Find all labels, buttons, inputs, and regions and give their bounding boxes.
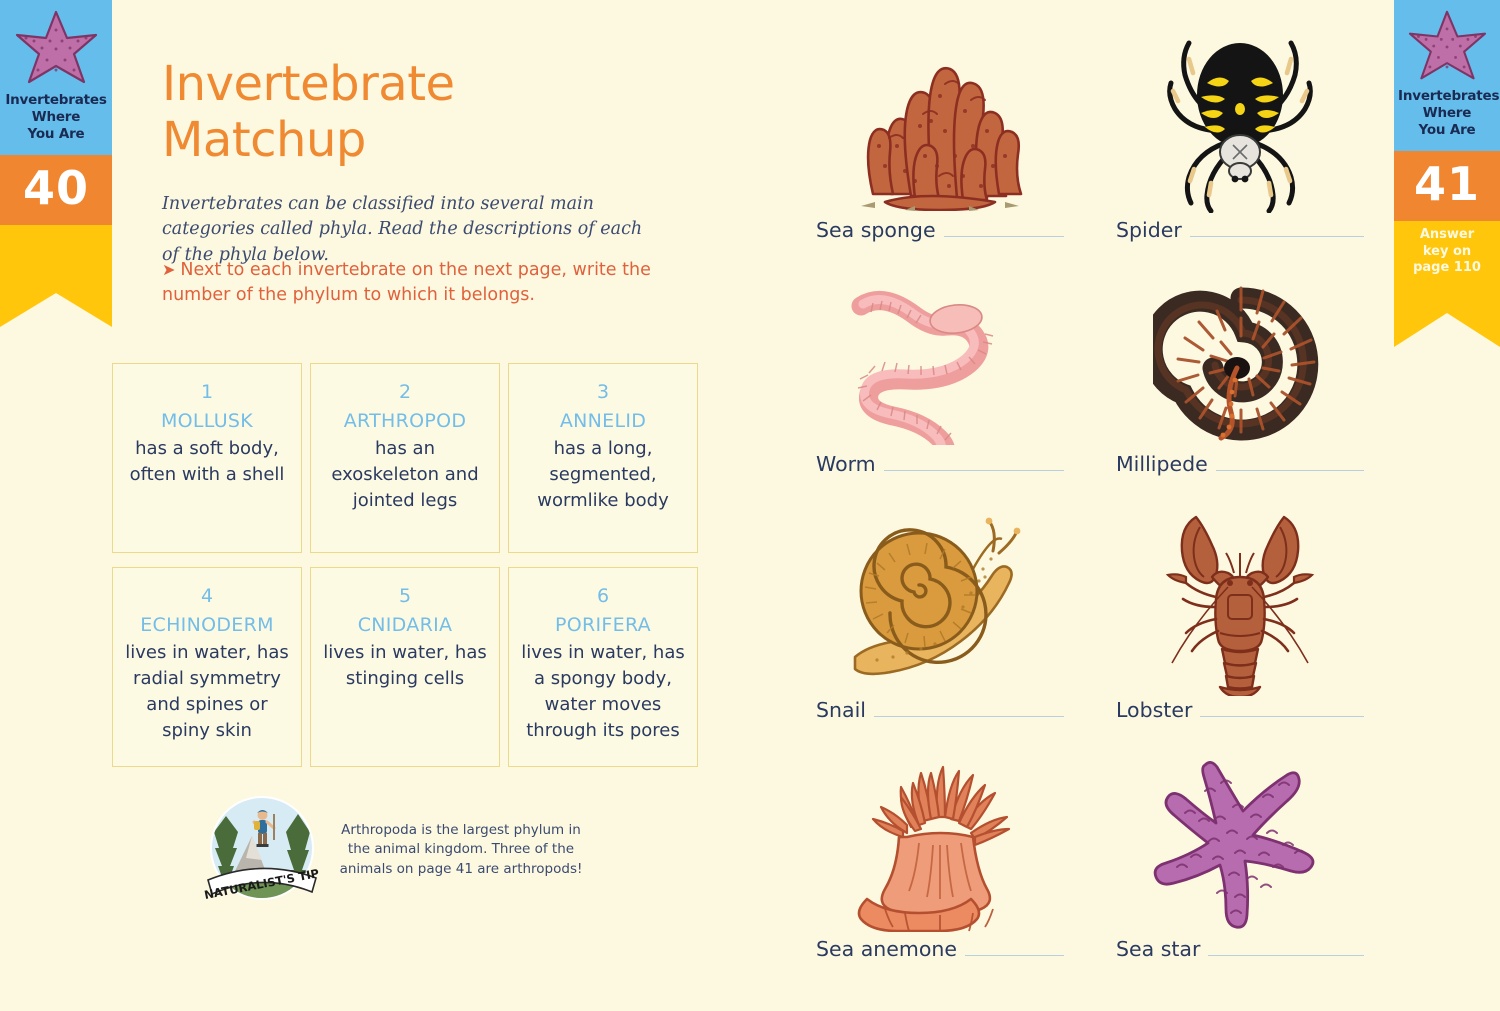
naturalists-tip: NATURALIST'S TIP Arthropoda is the large…	[202, 788, 722, 912]
invertebrate-row: Sea anemone	[790, 752, 1390, 961]
invertebrate-cell: Spider	[1090, 0, 1390, 242]
invertebrate-grid: Sea sponge	[790, 0, 1390, 961]
answer-field-row[interactable]: Millipede	[1090, 452, 1390, 476]
phylum-card: 4 ECHINODERM lives in water, has radial …	[112, 567, 302, 767]
answer-blank[interactable]	[1190, 221, 1364, 237]
sea-star-illustration	[1090, 752, 1390, 937]
sea-anemone-illustration	[790, 752, 1090, 937]
row-spacer	[790, 722, 1390, 752]
right-tab-label: Invertebrates Where You Are	[1398, 88, 1496, 139]
right-page-number: 41	[1394, 161, 1500, 207]
invertebrate-label: Millipede	[1116, 452, 1208, 476]
right-page-tab: Invertebrates Where You Are 41 Answer ke…	[1394, 0, 1500, 313]
phylum-description: lives in water, has a spongy body, water…	[517, 640, 689, 744]
invertebrate-label: Sea star	[1116, 937, 1200, 961]
phylum-card-grid: 1 MOLLUSK has a soft body, often with a …	[112, 363, 732, 781]
answer-blank[interactable]	[944, 221, 1064, 237]
snail-illustration	[790, 498, 1090, 698]
phylum-card: 2 ARTHROPOD has an exoskeleton and joint…	[310, 363, 500, 553]
naturalists-tip-text: Arthropoda is the largest phylum in the …	[336, 821, 586, 880]
left-page-tab: Invertebrates Where You Are 40	[0, 0, 112, 293]
answer-field-row[interactable]: Snail	[790, 698, 1090, 722]
invertebrate-cell: Lobster	[1090, 498, 1390, 722]
phylum-name: ANNELID	[517, 407, 689, 436]
naturalists-tip-badge: NATURALIST'S TIP	[202, 788, 322, 912]
phylum-card: 3 ANNELID has a long, segmented, wormlik…	[508, 363, 698, 553]
sea-anemone-icon	[845, 757, 1035, 932]
phylum-card: 5 CNIDARIA lives in water, has stinging …	[310, 567, 500, 767]
phylum-card-row-2: 4 ECHINODERM lives in water, has radial …	[112, 567, 732, 767]
phylum-card-row-1: 1 MOLLUSK has a soft body, often with a …	[112, 363, 732, 553]
invertebrate-cell: Millipede	[1090, 272, 1390, 476]
phylum-description: lives in water, has stinging cells	[319, 640, 491, 692]
phylum-name: MOLLUSK	[121, 407, 293, 436]
intro-paragraph: Invertebrates can be classified into sev…	[162, 192, 652, 268]
phylum-name: PORIFERA	[517, 611, 689, 640]
left-tab-header: Invertebrates Where You Are	[0, 0, 112, 155]
phylum-description: has an exoskeleton and jointed legs	[319, 436, 491, 514]
millipede-illustration	[1090, 272, 1390, 452]
invertebrate-row: Snail	[790, 498, 1390, 722]
right-tab-footer: Answer key on page 110	[1394, 221, 1500, 313]
spider-illustration	[1090, 0, 1390, 218]
lobster-illustration	[1090, 498, 1390, 698]
left-page-number: 40	[0, 165, 112, 211]
answer-field-row[interactable]: Sea star	[1090, 937, 1390, 961]
phylum-card: 1 MOLLUSK has a soft body, often with a …	[112, 363, 302, 553]
right-page-number-block: 41	[1394, 151, 1500, 221]
left-tab-point	[0, 293, 112, 327]
invertebrate-label: Sea sponge	[816, 218, 936, 242]
phylum-number: 1	[121, 378, 293, 407]
phylum-number: 3	[517, 378, 689, 407]
right-tab-header: Invertebrates Where You Are	[1394, 0, 1500, 151]
answer-blank[interactable]	[884, 455, 1064, 471]
answer-key-note: Answer key on page 110	[1394, 227, 1500, 278]
phylum-card: 6 PORIFERA lives in water, has a spongy …	[508, 567, 698, 767]
sea-star-icon	[1143, 755, 1338, 935]
answer-blank[interactable]	[1216, 455, 1364, 471]
page-title: Invertebrate Matchup	[162, 56, 722, 168]
invertebrate-cell: Sea star	[1090, 752, 1390, 961]
phylum-description: lives in water, has radial symmetry and …	[121, 640, 293, 744]
row-spacer	[790, 476, 1390, 498]
left-page-number-block: 40	[0, 155, 112, 225]
snail-icon	[833, 511, 1048, 686]
phylum-description: has a soft body, often with a shell	[121, 436, 293, 488]
invertebrate-cell: Snail	[790, 498, 1090, 722]
invertebrate-label: Snail	[816, 698, 866, 722]
answer-blank[interactable]	[1200, 701, 1364, 717]
phylum-name: ARTHROPOD	[319, 407, 491, 436]
invertebrate-label: Worm	[816, 452, 876, 476]
hiker-badge-icon: NATURALIST'S TIP	[202, 788, 322, 908]
arrow-icon: ➤	[162, 260, 175, 279]
answer-field-row[interactable]: Spider	[1090, 218, 1390, 242]
worm-icon	[835, 280, 1045, 445]
invertebrate-cell: Worm	[790, 272, 1090, 476]
phylum-number: 2	[319, 378, 491, 407]
invertebrate-row: Sea sponge	[790, 0, 1390, 242]
left-tab-footer	[0, 225, 112, 293]
invertebrate-row: Worm	[790, 272, 1390, 476]
invertebrate-label: Lobster	[1116, 698, 1192, 722]
phylum-number: 5	[319, 582, 491, 611]
millipede-icon	[1153, 280, 1328, 445]
right-tab-point	[1394, 313, 1500, 347]
answer-field-row[interactable]: Sea anemone	[790, 937, 1090, 961]
phylum-number: 4	[121, 582, 293, 611]
sea-star-icon	[12, 8, 100, 88]
sea-sponge-illustration	[790, 0, 1090, 218]
left-tab-label: Invertebrates Where You Are	[4, 92, 108, 143]
right-page: Sea sponge	[790, 0, 1390, 1011]
instruction-text: Next to each invertebrate on the next pa…	[162, 260, 651, 305]
answer-field-row[interactable]: Worm	[790, 452, 1090, 476]
left-page: Invertebrate Matchup Invertebrates can b…	[112, 0, 772, 1011]
sea-sponge-icon	[845, 26, 1035, 211]
sea-star-icon	[1405, 8, 1489, 84]
answer-blank[interactable]	[965, 940, 1064, 956]
phylum-description: has a long, segmented, wormlike body	[517, 436, 689, 514]
answer-blank[interactable]	[1208, 940, 1364, 956]
answer-field-row[interactable]: Lobster	[1090, 698, 1390, 722]
invertebrate-cell: Sea anemone	[790, 752, 1090, 961]
answer-field-row[interactable]: Sea sponge	[790, 218, 1090, 242]
worm-illustration	[790, 272, 1090, 452]
invertebrate-label: Spider	[1116, 218, 1182, 242]
phylum-number: 6	[517, 582, 689, 611]
spider-icon	[1145, 23, 1335, 213]
invertebrate-cell: Sea sponge	[790, 0, 1090, 242]
answer-blank[interactable]	[874, 701, 1064, 717]
workbook-spread: Invertebrates Where You Are 40	[0, 0, 1500, 1011]
instruction-paragraph: ➤Next to each invertebrate on the next p…	[162, 258, 662, 309]
phylum-name: ECHINODERM	[121, 611, 293, 640]
row-spacer	[790, 242, 1390, 272]
lobster-icon	[1160, 501, 1320, 696]
invertebrate-label: Sea anemone	[816, 937, 957, 961]
phylum-name: CNIDARIA	[319, 611, 491, 640]
